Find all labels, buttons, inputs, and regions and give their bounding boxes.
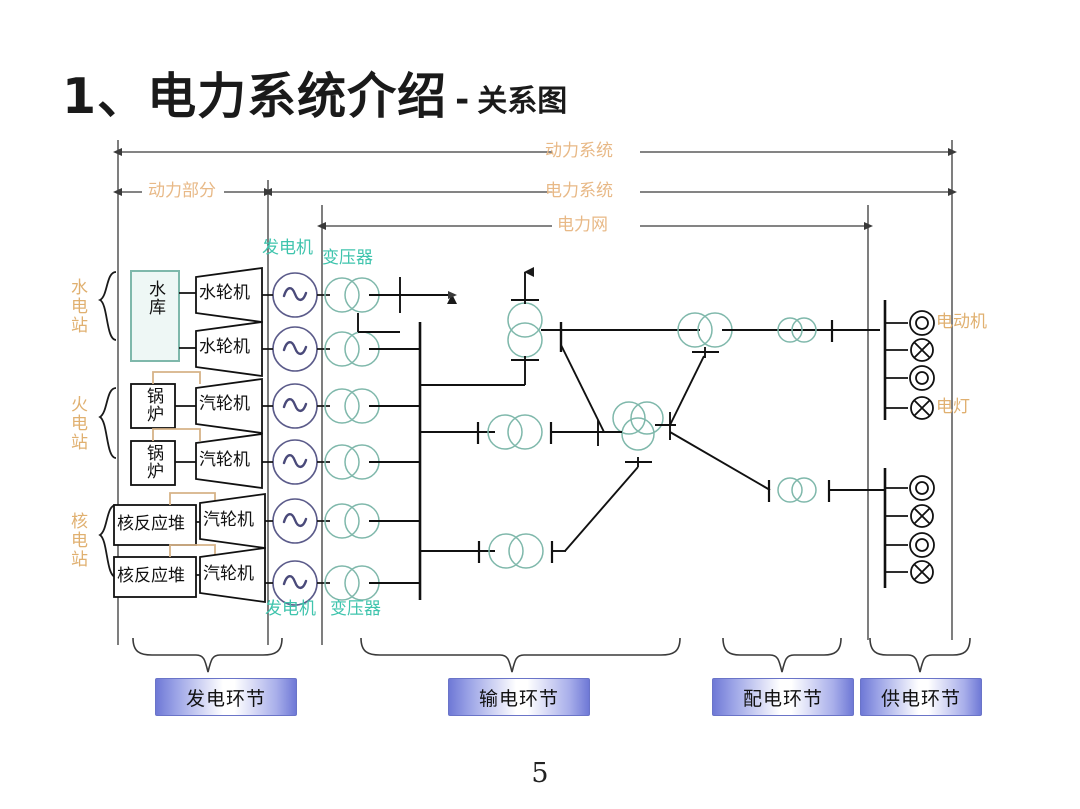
plant-group-brace-thermal [100,388,116,458]
transmission-transformer-three-winding [613,402,663,450]
plant-group-brace-hydro [100,272,116,340]
load-motor-4 [910,533,934,557]
load-motor-2 [910,366,934,390]
transmission-hub-links [565,356,770,551]
span-label-power-system-overall: 动力系统 [545,143,613,160]
span-label-electric-power-system: 电力系统 [545,183,613,200]
stage-box-supply[interactable]: 供电环节 [860,678,982,716]
distribution-transformer-bottom [778,478,816,502]
source-label-reactor-2: 核反应堆 [117,568,185,585]
stage-box-generation[interactable]: 发电环节 [155,678,297,716]
plant-group-label-thermal: 火电站 [68,395,85,452]
slide-canvas: 1、 电力系统介绍 - 关系图 [0,0,1080,809]
load-lamp-1 [911,339,933,361]
load-motor-3 [910,476,934,500]
source-label-boiler-1: 锅炉 [144,387,161,423]
turbine-label-hydro-1: 水轮机 [199,285,250,302]
equipment-label-transformer-bottom: 变压器 [330,601,381,618]
stage-box-distribution[interactable]: 配电环节 [712,678,854,716]
load-label-lamp: 电灯 [936,399,970,416]
generator-4 [273,440,317,484]
stage-box-transmission[interactable]: 输电环节 [448,678,590,716]
span-arrow-electric-power-network [322,205,868,645]
generator-5 [273,499,317,543]
transmission-vertical-branch [511,272,539,385]
load-lamp-3 [911,505,933,527]
generator-2 [273,327,317,371]
transmission-links-1 [541,330,700,432]
span-label-power-portion: 动力部分 [148,183,216,200]
turbine-label-nuclear-2: 汽轮机 [203,566,254,583]
transmission-transformer-vertical [508,303,542,357]
stage-brace-transmission [361,638,680,672]
plant-group-label-hydro: 水电站 [68,278,85,335]
load-label-motor: 电动机 [936,314,987,331]
load-lamp-4 [911,561,933,583]
turbine-label-nuclear-1: 汽轮机 [203,512,254,529]
equipment-label-generator-bottom: 发电机 [265,601,316,618]
stage-brace-supply [870,638,970,672]
transmission-links-3 [692,330,880,358]
generation-bus-network [358,277,525,600]
load-motor-1 [910,311,934,335]
source-label-reactor-1: 核反应堆 [117,516,185,533]
transmission-links-2 [551,420,604,446]
load-feeders-upper [885,323,908,408]
turbine-label-thermal-1: 汽轮机 [199,396,250,413]
equipment-label-generator-top: 发电机 [262,240,313,257]
generator-3 [273,384,317,428]
source-label-reservoir: 水库 [146,280,163,316]
turbine-label-thermal-2: 汽轮机 [199,452,250,469]
source-label-boiler-2: 锅炉 [144,444,161,480]
stage-brace-generation [133,638,282,672]
load-lamp-2 [911,397,933,419]
load-feeders-lower [885,488,908,572]
stage-brace-distribution [723,638,841,672]
equipment-label-transformer-top: 变压器 [322,250,373,267]
transmission-transformer-mid [488,415,542,449]
page-number: 5 [0,758,1080,789]
plant-group-label-nuclear: 核电站 [68,512,85,569]
turbine-label-hydro-2: 水轮机 [199,339,250,356]
generator-1 [273,273,317,317]
distribution-transformer-lower-left [489,534,543,568]
span-label-electric-power-network: 电力网 [557,217,608,234]
